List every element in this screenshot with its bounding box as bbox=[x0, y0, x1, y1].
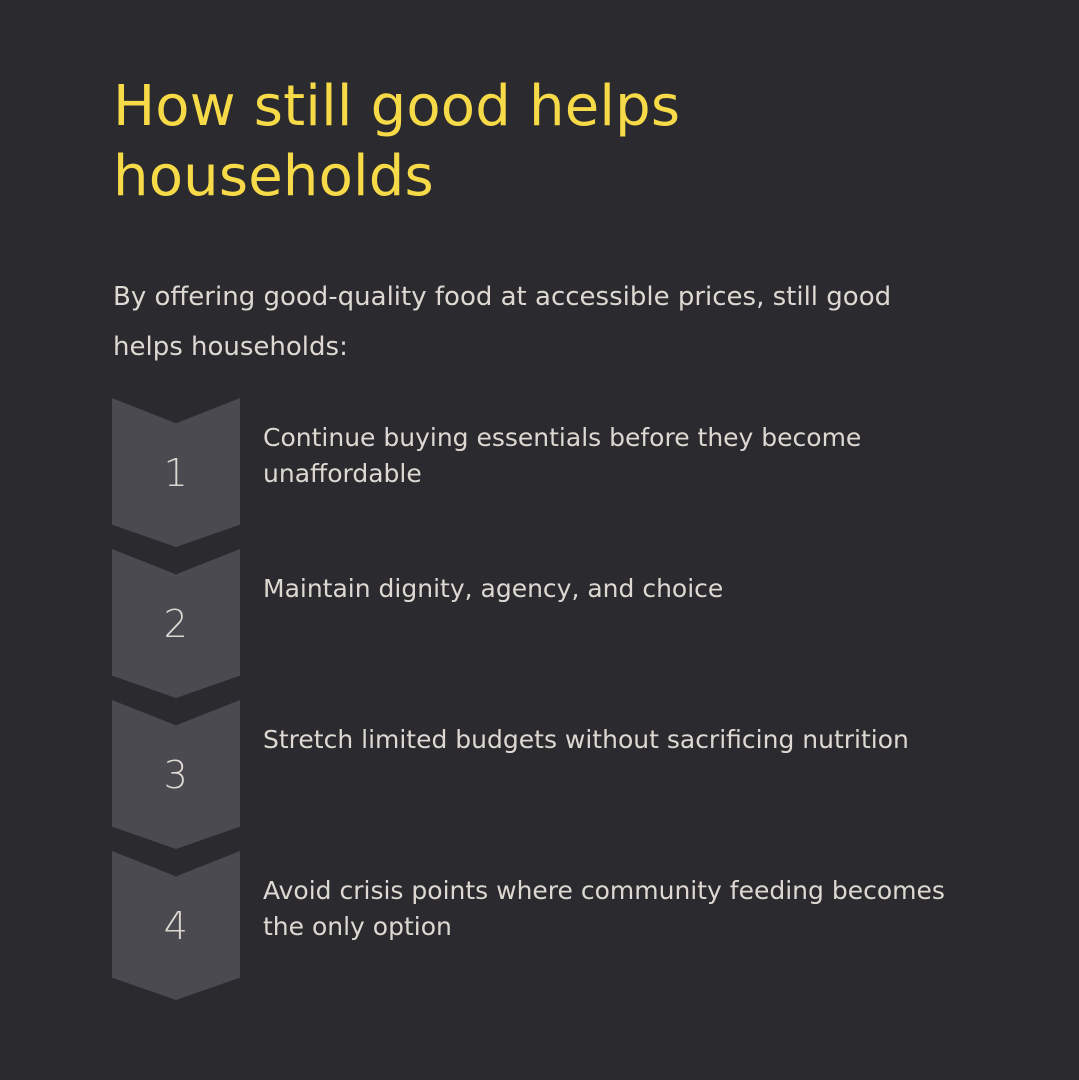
intro-paragraph: By offering good-quality food at accessi… bbox=[113, 272, 943, 372]
step-text: Continue buying essentials before they b… bbox=[263, 420, 983, 492]
list-item: 1 Continue buying essentials before they… bbox=[112, 398, 1012, 549]
step-text: Maintain dignity, agency, and choice bbox=[263, 571, 983, 607]
steps-list: 1 Continue buying essentials before they… bbox=[112, 398, 1012, 1006]
chevron-marker-icon bbox=[112, 398, 240, 547]
list-item: 2 Maintain dignity, agency, and choice bbox=[112, 549, 1012, 700]
chevron-marker-icon bbox=[112, 549, 240, 698]
slide-root: How still good helps households By offer… bbox=[0, 0, 1079, 1080]
step-text: Stretch limited budgets without sacrific… bbox=[263, 722, 983, 758]
chevron-marker-icon bbox=[112, 700, 240, 849]
step-text: Avoid crisis points where community feed… bbox=[263, 873, 983, 945]
chevron-marker-icon bbox=[112, 851, 240, 1000]
page-title: How still good helps households bbox=[113, 72, 873, 212]
list-item: 4 Avoid crisis points where community fe… bbox=[112, 851, 1012, 1006]
list-item: 3 Stretch limited budgets without sacrif… bbox=[112, 700, 1012, 851]
